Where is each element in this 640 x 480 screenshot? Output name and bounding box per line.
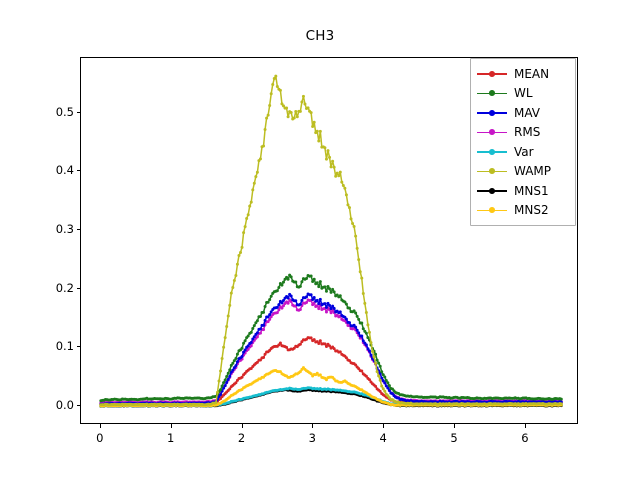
series-marker [274, 75, 277, 78]
series-marker [323, 146, 326, 149]
series-marker [339, 294, 342, 297]
series-marker [299, 308, 302, 311]
series-marker [294, 299, 297, 302]
series-marker [224, 336, 227, 339]
series-marker [365, 343, 368, 346]
legend-label: WAMP [514, 165, 551, 177]
series-marker [325, 158, 328, 161]
series-marker [219, 393, 222, 396]
series-marker [214, 401, 217, 404]
series-marker [365, 311, 368, 314]
series-marker [287, 115, 290, 118]
series-marker [231, 362, 234, 365]
series-marker [228, 368, 231, 371]
series-marker [377, 362, 380, 365]
series-marker [222, 346, 225, 349]
legend-item-wl[interactable]: WL [477, 84, 569, 104]
series-marker [377, 374, 380, 377]
legend-swatch-icon [477, 87, 507, 99]
series-marker [219, 369, 222, 372]
matplotlib-figure: CH3 0.00.10.20.30.40.5 0123456 MEANWLMAV… [0, 0, 640, 480]
series-marker [234, 364, 237, 367]
legend-swatch-icon [477, 68, 507, 80]
series-marker [241, 347, 244, 350]
series-marker [333, 290, 336, 293]
series-marker [363, 302, 366, 305]
series-marker [231, 369, 234, 372]
series-marker [267, 301, 270, 304]
series-marker [307, 106, 310, 109]
series-marker [282, 281, 285, 284]
series-marker [351, 222, 354, 225]
series-marker [359, 270, 362, 273]
series-marker [294, 280, 297, 283]
series-marker [277, 286, 280, 289]
series-marker [244, 339, 247, 342]
series-marker [383, 390, 386, 393]
series-marker [244, 349, 247, 352]
series-marker [279, 342, 282, 345]
series-marker [248, 205, 251, 208]
series-marker [302, 95, 305, 98]
series-marker [300, 280, 303, 283]
legend-label: MNS1 [514, 185, 549, 197]
series-marker [374, 353, 377, 356]
series-marker [300, 101, 303, 104]
legend-marker-icon [489, 149, 495, 155]
series-marker [227, 378, 230, 381]
series-marker [285, 107, 288, 110]
series-marker [357, 318, 360, 321]
series-marker [326, 149, 329, 152]
series-marker [259, 315, 262, 318]
series-marker [388, 384, 391, 387]
series-marker [336, 172, 339, 175]
x-tick-label: 5 [450, 431, 457, 445]
legend-marker-icon [489, 90, 495, 96]
series-marker [259, 328, 262, 331]
series-marker [334, 175, 337, 178]
series-marker [285, 346, 288, 349]
series-marker [354, 311, 357, 314]
series-marker [365, 332, 368, 335]
series-marker [325, 290, 328, 293]
series-marker [277, 303, 280, 306]
legend-label: Var [514, 146, 534, 158]
series-marker [333, 166, 336, 169]
x-tick-label: 3 [309, 431, 316, 445]
series-marker [290, 295, 293, 298]
series-marker [242, 231, 245, 234]
legend-marker-icon [489, 71, 495, 77]
series-marker [256, 331, 259, 334]
series-marker [262, 356, 265, 359]
series-marker [323, 285, 326, 288]
series-marker [250, 331, 253, 334]
series-marker [227, 314, 230, 317]
series-marker [276, 306, 279, 309]
series-marker [360, 321, 363, 324]
series-marker [218, 380, 221, 383]
legend-label: RMS [514, 126, 540, 138]
legend-item-mean[interactable]: MEAN [477, 64, 569, 84]
y-tick-label: 0.0 [34, 398, 74, 412]
x-tick-label: 2 [238, 431, 245, 445]
y-tick-label: 0.3 [34, 222, 74, 236]
series-marker [317, 285, 320, 288]
series-marker [239, 251, 242, 254]
series-marker [253, 182, 256, 185]
series-marker [244, 225, 247, 228]
legend-item-var[interactable]: Var [477, 142, 569, 162]
series-marker [251, 327, 254, 330]
series-marker [296, 115, 299, 118]
series-marker [374, 385, 377, 388]
series-marker [345, 303, 348, 306]
series-marker [317, 307, 320, 310]
series-marker [250, 201, 253, 204]
series-marker [277, 308, 280, 311]
series-marker [356, 247, 359, 250]
series-marker [330, 307, 333, 310]
x-tick-label: 6 [521, 431, 528, 445]
series-marker [339, 171, 342, 174]
legend-item-mns2[interactable]: MNS2 [477, 201, 569, 221]
series-marker [383, 376, 386, 379]
series-marker [290, 275, 293, 278]
series-marker [369, 354, 372, 357]
series-marker [330, 291, 333, 294]
series-marker [342, 184, 345, 187]
series-marker [313, 296, 316, 299]
series-marker [386, 381, 389, 384]
series-marker [251, 188, 254, 191]
series-marker [357, 258, 360, 261]
series-marker [254, 175, 257, 178]
series-marker [259, 157, 262, 160]
series-marker [333, 307, 336, 310]
series-marker [316, 281, 319, 284]
series-marker [348, 307, 351, 310]
x-tick-label: 4 [380, 431, 387, 445]
series-marker [376, 359, 379, 362]
series-marker [362, 292, 365, 295]
series-marker [310, 275, 313, 278]
series-marker [228, 375, 231, 378]
series-marker [264, 128, 267, 131]
series-marker [319, 373, 322, 376]
series-marker [337, 174, 340, 177]
series-marker [265, 117, 268, 120]
series-marker [373, 356, 376, 359]
series-marker [354, 326, 357, 329]
series-marker [310, 336, 313, 339]
series-marker [348, 206, 351, 209]
legend-swatch-icon [477, 185, 507, 197]
series-marker [331, 160, 334, 163]
series-marker [279, 89, 282, 92]
series-marker [331, 288, 334, 291]
series-marker [325, 310, 328, 313]
series-marker [256, 171, 259, 174]
series-marker [376, 370, 379, 373]
series-marker [379, 379, 382, 382]
series-marker [319, 280, 322, 283]
series-marker [380, 370, 383, 373]
series-mean [99, 336, 562, 406]
series-marker [236, 360, 239, 363]
series-marker [225, 375, 228, 378]
series-marker [250, 344, 253, 347]
series-marker [350, 217, 353, 220]
series-marker [316, 130, 319, 133]
series-marker [310, 293, 313, 296]
series-marker [330, 165, 333, 168]
series-marker [328, 287, 331, 290]
series-marker [357, 331, 360, 334]
series-marker [276, 85, 279, 88]
series-marker [221, 357, 224, 360]
series-marker [328, 304, 331, 307]
series-marker [236, 353, 239, 356]
series-marker [268, 298, 271, 301]
series-marker [228, 304, 231, 307]
series-marker [368, 331, 371, 334]
series-marker [293, 117, 296, 120]
series-marker [294, 110, 297, 113]
series-marker [224, 378, 227, 381]
x-tick-label: 1 [167, 431, 174, 445]
series-marker [319, 339, 322, 342]
legend-swatch-icon [477, 204, 507, 216]
series-marker [313, 121, 316, 124]
legend-marker-icon [489, 110, 495, 116]
series-marker [222, 381, 225, 384]
series-marker [262, 324, 265, 327]
series-marker [339, 310, 342, 313]
legend-swatch-icon [477, 146, 507, 158]
series-marker [356, 315, 359, 318]
series-marker [323, 342, 326, 345]
series-marker [299, 303, 302, 306]
series-marker [287, 302, 290, 305]
series-line [101, 275, 561, 401]
series-marker [360, 277, 363, 280]
legend-marker-icon [489, 207, 495, 213]
legend-label: MEAN [514, 68, 549, 80]
series-marker [354, 235, 357, 238]
series-marker [323, 302, 326, 305]
series-marker [299, 285, 302, 288]
series-marker [267, 114, 270, 117]
series-marker [328, 156, 331, 159]
series-marker [227, 372, 230, 375]
series-marker [371, 350, 374, 353]
series-marker [560, 398, 563, 401]
series-marker [259, 332, 262, 335]
series-marker [264, 305, 267, 308]
series-marker [221, 384, 224, 387]
series-marker [345, 193, 348, 196]
series-marker [348, 321, 351, 324]
legend-label: MAV [514, 107, 540, 119]
legend-item-rms[interactable]: RMS [477, 123, 569, 143]
series-marker [262, 328, 265, 331]
series-marker [216, 391, 219, 394]
series-marker [317, 140, 320, 143]
y-tick-label: 0.2 [34, 281, 74, 295]
y-tick-label: 0.4 [34, 163, 74, 177]
legend-label: WL [514, 87, 533, 99]
series-marker [268, 313, 271, 316]
series-marker [262, 311, 265, 314]
series-marker [233, 279, 236, 282]
legend: MEANWLMAVRMSVarWAMPMNS1MNS2 [470, 58, 576, 226]
series-marker [368, 349, 371, 352]
y-tick-label: 0.1 [34, 339, 74, 353]
series-marker [300, 299, 303, 302]
series-marker [234, 357, 237, 360]
series-line [101, 300, 561, 403]
legend-item-mav[interactable]: MAV [477, 103, 569, 123]
series-marker [343, 187, 346, 190]
series-marker [247, 335, 250, 338]
series-marker [241, 376, 244, 379]
series-marker [366, 323, 369, 326]
series-marker [290, 111, 293, 114]
series-marker [225, 325, 228, 328]
series-marker [241, 355, 244, 358]
series-marker [305, 277, 308, 280]
series-marker [379, 365, 382, 368]
legend-label: MNS2 [514, 204, 549, 216]
series-marker [256, 335, 259, 338]
series-marker [299, 110, 302, 113]
series-marker [271, 83, 274, 86]
series-marker [268, 104, 271, 107]
series-marker [319, 130, 322, 133]
series-marker [236, 263, 239, 266]
series-marker [310, 111, 313, 114]
legend-marker-icon [489, 129, 495, 135]
legend-swatch-icon [477, 107, 507, 119]
series-marker [262, 145, 265, 148]
series-marker [219, 388, 222, 391]
series-marker [319, 298, 322, 301]
series-marker [345, 318, 348, 321]
series-marker [287, 278, 290, 281]
series-marker [339, 350, 342, 353]
series-marker [340, 181, 343, 184]
series-marker [317, 342, 320, 345]
x-tick-label: 0 [96, 431, 103, 445]
legend-marker-icon [489, 188, 495, 194]
page-title: CH3 [0, 28, 640, 44]
series-marker [346, 203, 349, 206]
series-marker [234, 274, 237, 277]
series-marker [270, 295, 273, 298]
series-marker [287, 297, 290, 300]
legend-swatch-icon [477, 165, 507, 177]
y-tick-label: 0.5 [34, 105, 74, 119]
legend-marker-icon [489, 168, 495, 174]
series-marker [374, 362, 377, 365]
series-marker [305, 295, 308, 298]
series-marker [305, 301, 308, 304]
series-marker [245, 217, 248, 220]
series-marker [317, 302, 320, 305]
series-marker [230, 292, 233, 295]
series-marker [380, 385, 383, 388]
series-marker [362, 327, 365, 330]
series-marker [299, 343, 302, 346]
series-marker [231, 286, 234, 289]
legend-swatch-icon [477, 126, 507, 138]
series-marker [356, 329, 359, 332]
series-marker [360, 369, 363, 372]
series-marker [303, 103, 306, 106]
series-marker [313, 278, 316, 281]
series-marker [311, 125, 314, 128]
series-marker [270, 92, 273, 95]
series-marker [264, 319, 267, 322]
series-marker [253, 324, 256, 327]
legend-item-wamp[interactable]: WAMP [477, 162, 569, 182]
series-marker [369, 341, 372, 344]
series-marker [560, 402, 563, 405]
series-marker [256, 319, 259, 322]
series-marker [353, 225, 356, 228]
series-marker [316, 299, 319, 302]
series-marker [276, 289, 279, 292]
series-marker [247, 213, 250, 216]
series-marker [224, 384, 227, 387]
series-wl [99, 274, 562, 403]
series-marker [241, 246, 244, 249]
series-marker [325, 306, 328, 309]
series-marker [276, 311, 279, 314]
legend-item-mns1[interactable]: MNS1 [477, 181, 569, 201]
series-marker [250, 341, 253, 344]
series-marker [280, 284, 283, 287]
series-marker [268, 318, 271, 321]
series-marker [237, 254, 240, 257]
series-marker [360, 334, 363, 337]
